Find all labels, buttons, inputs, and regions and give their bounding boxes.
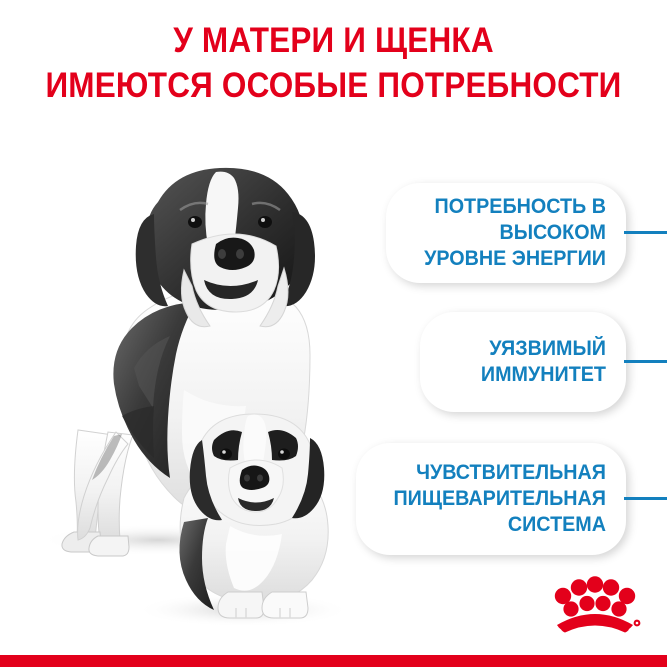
callout-3-line-3: СИСТЕМА xyxy=(371,512,606,538)
callout-connector-line-2 xyxy=(624,360,667,363)
callout-vulnerable-immunity-text: УЯЗВИМЫЙ ИММУНИТЕТ xyxy=(431,336,606,388)
headline-line-2: ИМЕЮТСЯ ОСОБЫЕ ПОТРЕБНОСТИ xyxy=(33,63,633,108)
callout-3-line-1: ЧУВСТВИТЕЛЬНАЯ xyxy=(371,460,606,486)
bottom-accent-bar xyxy=(0,655,667,667)
registered-trademark-icon xyxy=(634,620,641,627)
callout-high-energy-text: ПОТРЕБНОСТЬ В ВЫСОКОМ УРОВНЕ ЭНЕРГИИ xyxy=(399,194,606,272)
callout-sensitive-digestion-text: ЧУВСТВИТЕЛЬНАЯ ПИЩЕВАРИТЕЛЬНАЯ СИСТЕМА xyxy=(371,460,606,538)
page-title: У МАТЕРИ И ЩЕНКА ИМЕЮТСЯ ОСОБЫЕ ПОТРЕБНО… xyxy=(33,18,633,108)
callout-sensitive-digestion[interactable]: ЧУВСТВИТЕЛЬНАЯ ПИЩЕВАРИТЕЛЬНАЯ СИСТЕМА xyxy=(356,443,626,555)
callout-3-line-2: ПИЩЕВАРИТЕЛЬНАЯ xyxy=(371,486,606,512)
callout-1-line-1: ПОТРЕБНОСТЬ В xyxy=(399,194,606,220)
callout-1-line-2: ВЫСОКОМ xyxy=(399,220,606,246)
callout-1-line-3: УРОВНЕ ЭНЕРГИИ xyxy=(399,246,606,272)
poster: У МАТЕРИ И ЩЕНКА ИМЕЮТСЯ ОСОБЫЕ ПОТРЕБНО… xyxy=(0,0,667,667)
royal-canin-crown-logo xyxy=(547,572,643,634)
dog-photo xyxy=(8,140,408,650)
callout-connector-line-3 xyxy=(624,497,667,500)
callout-2-line-1: УЯЗВИМЫЙ xyxy=(431,336,606,362)
callout-2-line-2: ИММУНИТЕТ xyxy=(431,362,606,388)
callout-vulnerable-immunity[interactable]: УЯЗВИМЫЙ ИММУНИТЕТ xyxy=(420,312,626,412)
headline-line-1: У МАТЕРИ И ЩЕНКА xyxy=(33,18,633,63)
callout-high-energy[interactable]: ПОТРЕБНОСТЬ В ВЫСОКОМ УРОВНЕ ЭНЕРГИИ xyxy=(386,183,626,283)
callout-connector-line-1 xyxy=(624,231,667,234)
